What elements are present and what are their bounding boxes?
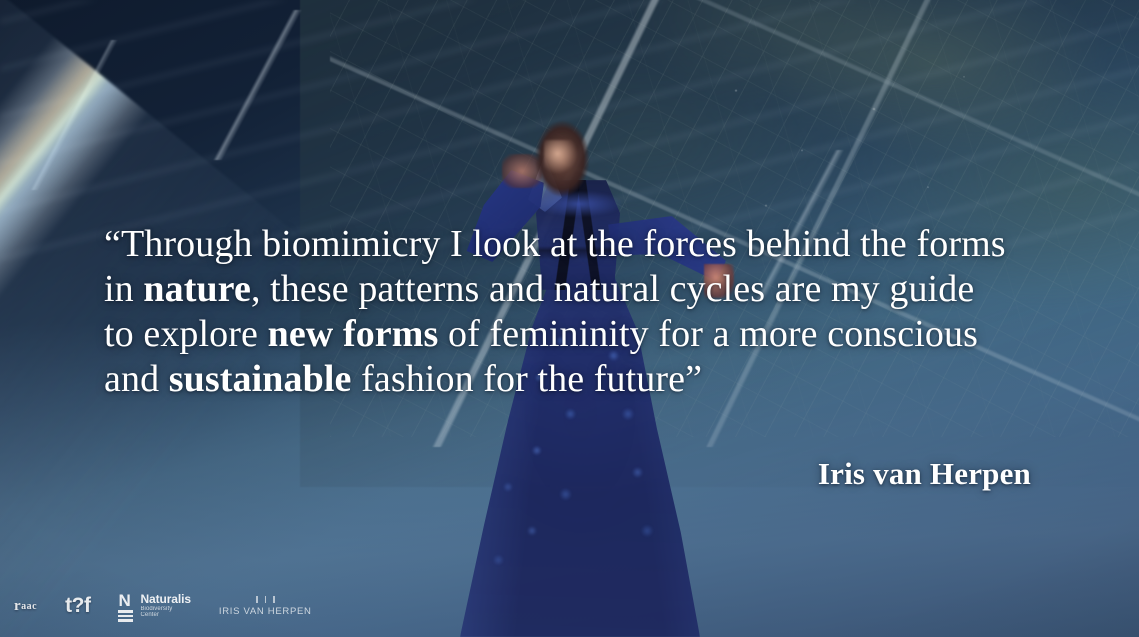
iris-van-herpen-logo: IRIS VAN HERPEN bbox=[219, 596, 312, 617]
quote-text: “Through biomimicry I look at the forces… bbox=[104, 222, 1044, 402]
iaac-main: aa bbox=[21, 601, 32, 612]
ivh-tick-marks bbox=[256, 596, 275, 603]
quote-line-3-pre: to explore bbox=[104, 313, 268, 355]
ivh-wordmark: IRIS VAN HERPEN bbox=[219, 606, 312, 617]
naturalis-wordmark: Naturalis Biodiversity Center bbox=[140, 593, 190, 618]
quote-line-4-post: fashion for the future bbox=[352, 358, 686, 400]
quote-close-mark: ” bbox=[685, 358, 702, 400]
iaac-logo: raac bbox=[14, 598, 37, 615]
t2f-logo: t?f bbox=[65, 594, 90, 618]
model-face-highlight bbox=[544, 140, 578, 174]
quote-line-1: Through biomimicry I look at the forces … bbox=[121, 223, 1006, 265]
quote-attribution: Iris van Herpen bbox=[0, 456, 1031, 492]
quote-emphasis-new-forms: new forms bbox=[268, 313, 439, 355]
naturalis-n-mark: N bbox=[118, 593, 135, 619]
quote-line-2-pre: in bbox=[104, 268, 143, 310]
logo-strip: raac t?f N Naturalis Biodiversity Center… bbox=[14, 583, 312, 629]
quote-emphasis-sustainable: sustainable bbox=[169, 358, 352, 400]
slide-canvas: “Through biomimicry I look at the forces… bbox=[0, 0, 1139, 637]
naturalis-name: Naturalis bbox=[140, 593, 190, 606]
quote-line-4-pre: and bbox=[104, 358, 169, 400]
naturalis-subtitle-line2: Center bbox=[140, 612, 190, 618]
quote-open-mark: “ bbox=[104, 223, 121, 265]
naturalis-mark-bars bbox=[118, 610, 135, 622]
quote-line-2-post: , these patterns and natural cycles are … bbox=[251, 268, 974, 310]
quote-line-3-post: of femininity for a more conscious bbox=[438, 313, 978, 355]
quote-emphasis-nature: nature bbox=[143, 268, 251, 310]
iaac-trail: c bbox=[32, 601, 37, 612]
naturalis-mark-letter: N bbox=[118, 593, 135, 608]
naturalis-logo: N Naturalis Biodiversity Center bbox=[118, 593, 190, 619]
